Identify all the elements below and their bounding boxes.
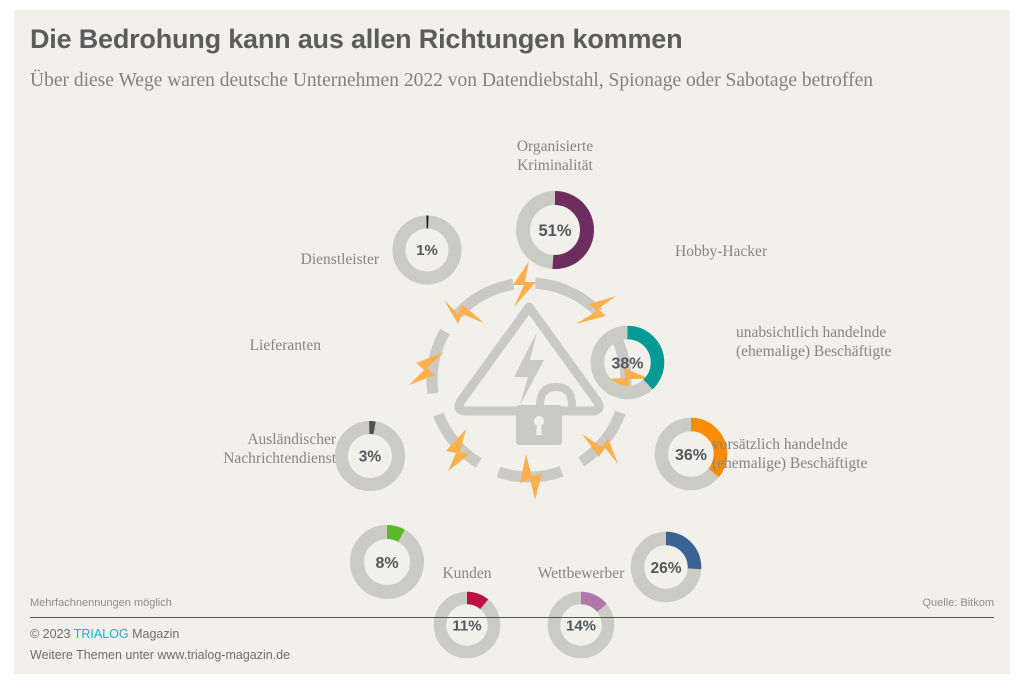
donut-label-wettbewerber: Wettbewerber <box>506 564 656 583</box>
donut-label-line: Dienstleister <box>301 251 379 268</box>
donut-label-organisierte-kriminalitaet: Organisierte Kriminalität <box>435 137 675 175</box>
donut-label-line: (ehemalige) Beschäftigte <box>736 342 1006 361</box>
source-label: Quelle: Bitkom <box>922 597 994 609</box>
donut-value-hobby-hacker: 38% <box>611 356 643 373</box>
donut-lieferanten: 3% <box>334 420 406 492</box>
donut-label-line: (ehemalige) Beschäftigte <box>712 454 982 473</box>
donut-label-vorsaetzlich-beschaeftigte: vorsätzlich handelnde (ehemalige) Beschä… <box>712 435 982 473</box>
donut-label-lieferanten: Lieferanten <box>104 336 321 355</box>
donut-dienstleister: 1% <box>392 215 462 285</box>
copyright-suffix: Magazin <box>129 627 180 641</box>
copyright-line: © 2023 TRIALOG Magazin <box>30 627 179 641</box>
donut-label-line: vorsätzlich handelnde <box>712 435 982 454</box>
donut-wettbewerber: 14% <box>547 591 615 659</box>
page-title: Die Bedrohung kann aus allen Richtungen … <box>30 24 970 55</box>
donut-label-hobby-hacker: Hobby-Hacker <box>675 242 955 261</box>
donut-kunden: 11% <box>433 591 501 659</box>
donut-hobby-hacker: 38% <box>590 325 665 400</box>
donut-label-dienstleister: Dienstleister <box>164 250 379 269</box>
donut-label-line: Organisierte <box>435 137 675 156</box>
more-topics-line: Weitere Themen unter www.trialog-magazin… <box>30 648 290 662</box>
donut-value-lieferanten: 3% <box>359 449 382 466</box>
footnote-multiple-answers: Mehrfachnennungen möglich <box>30 597 172 609</box>
donut-label-line: unabsichtlich handelnde <box>736 323 1006 342</box>
donut-value-unabsichtlich-beschaeftigte: 36% <box>675 447 707 464</box>
donut-label-line: Nachrichtendienst <box>104 449 336 468</box>
donut-label-auslaendischer-nachrichtendienst: Ausländischer Nachrichtendienst <box>104 430 336 468</box>
donut-label-line: Kunden <box>442 565 491 582</box>
donut-chart-stage: 1% Dienstleister 51% Organisierte Krimin… <box>14 120 1010 590</box>
footer-divider <box>30 617 994 618</box>
donut-value-wettbewerber: 14% <box>566 618 596 635</box>
donut-label-line: Hobby-Hacker <box>675 243 767 260</box>
donut-value-kunden: 11% <box>452 618 481 635</box>
donut-label-unabsichtlich-beschaeftigte: unabsichtlich handelnde (ehemalige) Besc… <box>736 323 1006 361</box>
donut-auslaendischer-nachrichtendienst: 8% <box>349 524 425 600</box>
donut-label-line: Wettbewerber <box>538 565 625 582</box>
donut-organisierte-kriminalitaet: 51% <box>515 190 595 270</box>
donut-label-line: Kriminalität <box>435 156 675 175</box>
donut-value-dienstleister: 1% <box>416 242 438 259</box>
infographic-canvas: Die Bedrohung kann aus allen Richtungen … <box>14 10 1010 674</box>
copyright-prefix: © 2023 <box>30 627 74 641</box>
brand-name: TRIALOG <box>74 627 129 641</box>
donut-value-organisierte-kriminalitaet: 51% <box>538 222 571 240</box>
donut-label-line: Lieferanten <box>250 337 321 354</box>
donut-label-line: Ausländischer <box>104 430 336 449</box>
page-subtitle: Über diese Wege waren deutsche Unternehm… <box>30 68 935 94</box>
